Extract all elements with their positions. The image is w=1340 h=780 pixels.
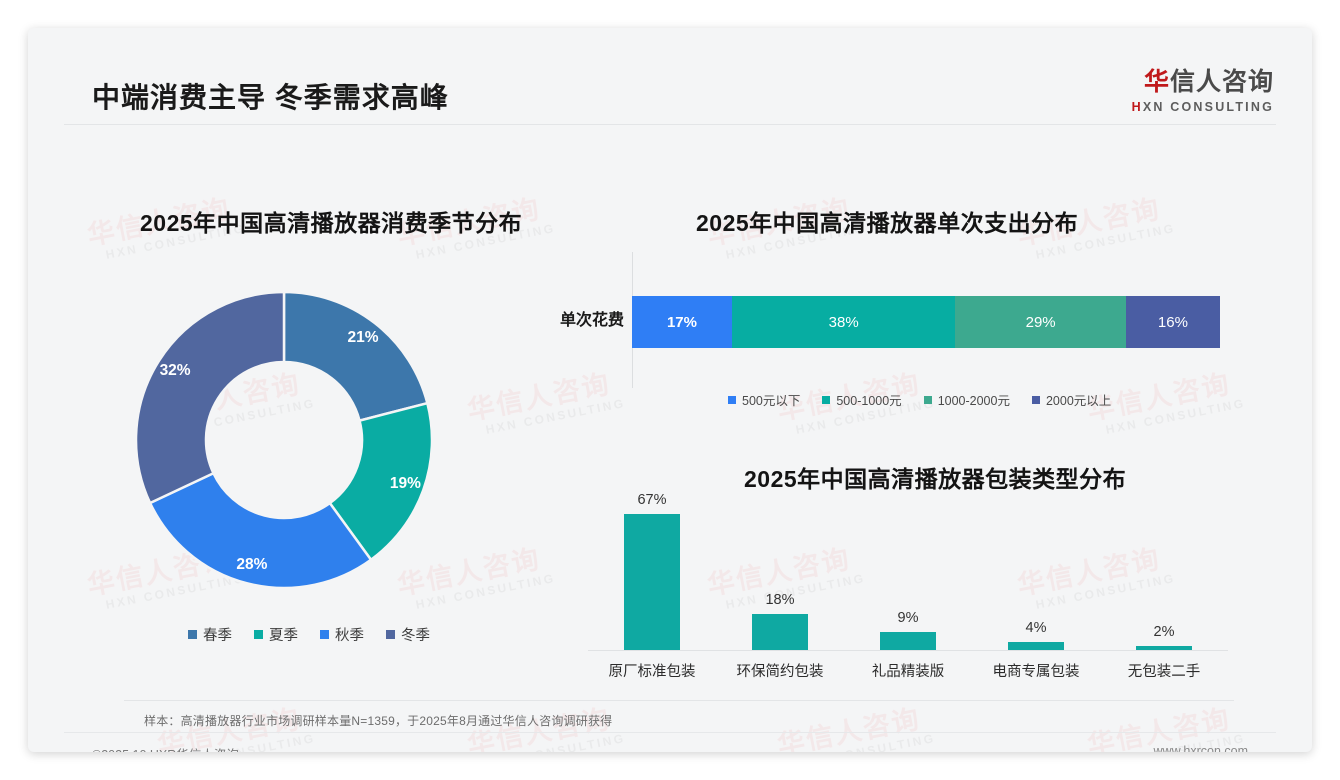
logo-english-red: H xyxy=(1132,100,1143,114)
stacked-bar-legend: 500元以下500-1000元1000-2000元2000元以上 xyxy=(728,390,1111,409)
column-cell: 9% xyxy=(844,498,972,650)
slide-header: 中端消费主导 冬季需求高峰 华信人咨询 HXN CONSULTING xyxy=(28,28,1312,124)
legend-label: 冬季 xyxy=(401,624,430,645)
logo-english: HXN CONSULTING xyxy=(1132,100,1274,114)
legend-swatch-icon xyxy=(728,396,736,404)
donut-svg: 21%19%28%32% xyxy=(132,260,552,620)
slide-canvas: 华信人咨询HXN CONSULTING华信人咨询HXN CONSULTING华信… xyxy=(28,28,1312,752)
legend-swatch-icon xyxy=(1032,396,1040,404)
donut-slice[interactable] xyxy=(136,292,284,503)
stacked-bar-segment[interactable]: 29% xyxy=(955,296,1126,348)
column-category-label: 无包装二手 xyxy=(1100,660,1228,681)
legend-label: 2000元以上 xyxy=(1046,390,1111,409)
legend-label: 秋季 xyxy=(335,624,364,645)
legend-item[interactable]: 500元以下 xyxy=(728,390,800,409)
donut-chart: 21%19%28%32% xyxy=(132,260,552,660)
logo-english-rest: XN CONSULTING xyxy=(1143,100,1274,114)
legend-swatch-icon xyxy=(254,630,263,639)
column-value-label: 2% xyxy=(1100,624,1228,640)
column-value-label: 67% xyxy=(588,492,716,508)
donut-legend: 春季夏季秋季冬季 xyxy=(188,624,430,645)
stacked-bar-segment[interactable]: 16% xyxy=(1126,296,1220,348)
donut-slice-label: 32% xyxy=(160,362,191,379)
donut-slice-label: 28% xyxy=(236,556,267,573)
page-title: 中端消费主导 冬季需求高峰 xyxy=(92,76,449,116)
website-url[interactable]: www.hxrcon.com xyxy=(1154,744,1248,752)
column-category-label: 原厂标准包装 xyxy=(588,660,716,681)
legend-label: 500-1000元 xyxy=(836,390,901,409)
legend-item[interactable]: 500-1000元 xyxy=(822,390,901,409)
column-category-label: 环保简约包装 xyxy=(716,660,844,681)
legend-swatch-icon xyxy=(924,396,932,404)
legend-item[interactable]: 秋季 xyxy=(320,624,364,645)
legend-item[interactable]: 春季 xyxy=(188,624,232,645)
column-cell: 18% xyxy=(716,498,844,650)
donut-chart-title: 2025年中国高清播放器消费季节分布 xyxy=(140,204,522,238)
column-value-label: 4% xyxy=(972,620,1100,636)
donut-slice-label: 21% xyxy=(348,329,379,346)
brand-logo: 华信人咨询 HXN CONSULTING xyxy=(1132,68,1274,114)
legend-label: 夏季 xyxy=(269,624,298,645)
column-cell: 67% xyxy=(588,498,716,650)
footer-divider xyxy=(64,732,1276,733)
column-bar[interactable] xyxy=(752,614,808,650)
footnote-divider xyxy=(124,700,1234,701)
stacked-bar-segment[interactable]: 38% xyxy=(732,296,955,348)
stacked-bar-segment[interactable]: 17% xyxy=(632,296,732,348)
column-bar[interactable] xyxy=(1008,642,1064,650)
logo-chinese-red: 华 xyxy=(1144,68,1170,96)
legend-swatch-icon xyxy=(822,396,830,404)
copyright-text: ©2025.10 HXR华信人咨询 xyxy=(92,744,239,752)
column-value-label: 9% xyxy=(844,610,972,626)
column-chart-category-axis: 原厂标准包装环保简约包装礼品精装版电商专属包装无包装二手 xyxy=(588,660,1228,681)
stacked-bar-track: 17%38%29%16% xyxy=(632,296,1220,348)
legend-item[interactable]: 1000-2000元 xyxy=(924,390,1010,409)
donut-slice[interactable] xyxy=(284,292,427,421)
legend-label: 1000-2000元 xyxy=(938,390,1010,409)
logo-chinese-dark: 信人咨询 xyxy=(1170,68,1274,96)
donut-slice-label: 19% xyxy=(390,475,421,492)
column-chart-plot: 67%18%9%4%2% xyxy=(588,498,1228,650)
column-category-label: 礼品精装版 xyxy=(844,660,972,681)
legend-swatch-icon xyxy=(386,630,395,639)
column-category-label: 电商专属包装 xyxy=(972,660,1100,681)
stacked-bar-chart-title: 2025年中国高清播放器单次支出分布 xyxy=(696,204,1078,238)
column-bar[interactable] xyxy=(880,632,936,650)
legend-item[interactable]: 2000元以上 xyxy=(1032,390,1111,409)
logo-chinese: 华信人咨询 xyxy=(1132,68,1274,97)
stacked-bar-category-label: 单次花费 xyxy=(528,306,624,330)
column-cell: 2% xyxy=(1100,498,1228,650)
legend-label: 500元以下 xyxy=(742,390,800,409)
legend-swatch-icon xyxy=(188,630,197,639)
column-value-label: 18% xyxy=(716,592,844,608)
legend-label: 春季 xyxy=(203,624,232,645)
legend-item[interactable]: 夏季 xyxy=(254,624,298,645)
legend-swatch-icon xyxy=(320,630,329,639)
column-chart-title: 2025年中国高清播放器包装类型分布 xyxy=(744,460,1126,494)
watermark: 华信人咨询HXN CONSULTING xyxy=(775,703,936,752)
legend-item[interactable]: 冬季 xyxy=(386,624,430,645)
column-chart-axis-line xyxy=(588,650,1228,651)
column-bar[interactable] xyxy=(624,514,680,650)
stacked-bar-chart: 单次花费 17%38%29%16% xyxy=(528,252,1240,392)
sample-note: 样本：高清播放器行业市场调研样本量N=1359，于2025年8月通过华信人咨询调… xyxy=(144,712,612,729)
header-divider xyxy=(64,124,1276,125)
column-cell: 4% xyxy=(972,498,1100,650)
column-chart: 67%18%9%4%2% 原厂标准包装环保简约包装礼品精装版电商专属包装无包装二… xyxy=(588,498,1228,698)
